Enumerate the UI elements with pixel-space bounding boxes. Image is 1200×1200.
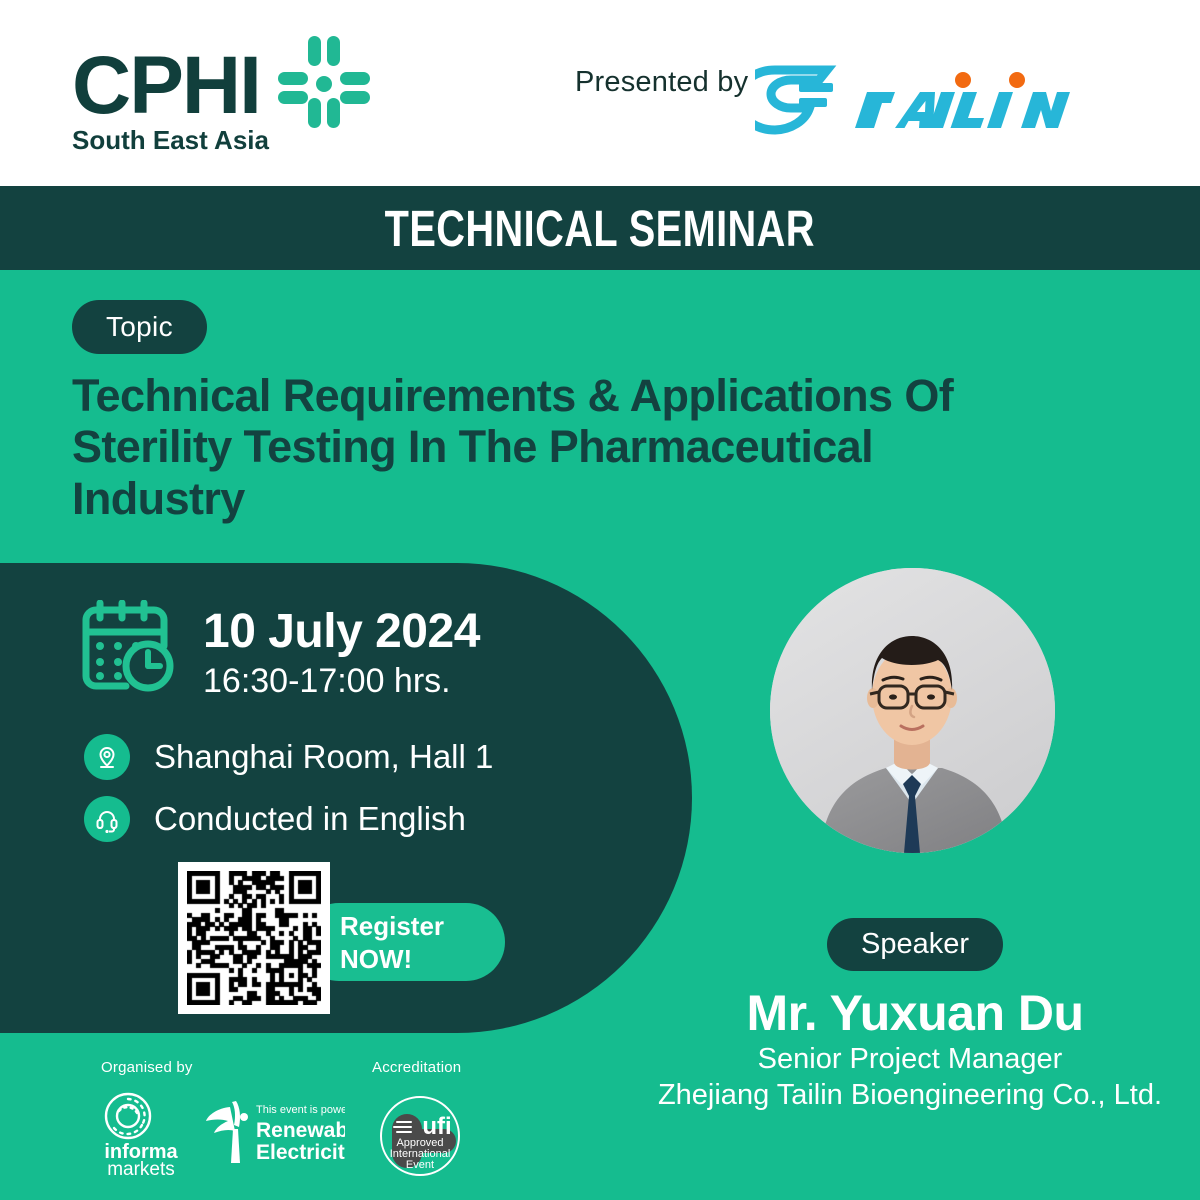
page-header: CPHI South East Asia Presented by: [0, 0, 1200, 186]
event-time: 16:30-17:00 hrs.: [203, 662, 451, 701]
topic-title: Technical Requirements & Applications Of…: [72, 370, 1002, 524]
headset-icon: [84, 796, 130, 842]
event-date: 10 July 2024: [203, 604, 480, 659]
language-row: Conducted in English: [84, 796, 466, 842]
seminar-banner-title: TECHNICAL SEMINAR: [385, 199, 815, 258]
location-pin-icon: [84, 734, 130, 780]
accreditation-label: Accreditation: [372, 1059, 461, 1076]
venue-text: Shanghai Room, Hall 1: [154, 738, 493, 776]
seminar-banner: TECHNICAL SEMINAR: [0, 186, 1200, 270]
ufi-line-3: Event: [406, 1159, 434, 1171]
ufi-mark-text: ufi: [422, 1113, 451, 1140]
renewable-word-1: Renewable: [256, 1119, 345, 1142]
speaker-company: Zhejiang Tailin Bioengineering Co., Ltd.: [620, 1079, 1200, 1112]
speaker-role: Senior Project Manager: [620, 1043, 1200, 1076]
topic-badge: Topic: [72, 300, 207, 354]
presented-by-label: Presented by: [575, 66, 748, 99]
ufi-accreditation-logo: ufi Approved International Event: [375, 1092, 465, 1180]
qr-code-canvas: [187, 871, 321, 1005]
speaker-photo: [770, 568, 1055, 853]
register-now-label[interactable]: Register NOW!: [340, 910, 500, 975]
register-line-1: Register: [340, 911, 444, 941]
speaker-badge: Speaker: [827, 918, 1003, 971]
calendar-clock-icon: [78, 600, 180, 692]
venue-row: Shanghai Room, Hall 1: [84, 734, 493, 780]
renewable-tagline-text: This event is powered by: [256, 1104, 345, 1116]
register-line-2: NOW!: [340, 944, 412, 974]
language-text: Conducted in English: [154, 800, 466, 838]
renewable-word-2: Electricity: [256, 1141, 345, 1164]
cphi-dot-motif-icon: [270, 28, 378, 136]
tailin-sponsor-logo: [755, 62, 1075, 137]
markets-word: markets: [107, 1159, 175, 1178]
qr-code-icon[interactable]: [178, 862, 330, 1014]
renewable-electricity-logo: This event is powered by Renewable Elect…: [200, 1095, 345, 1167]
speaker-badge-wrap: Speaker: [630, 918, 1200, 971]
organised-by-label: Organised by: [101, 1059, 193, 1076]
speaker-name: Mr. Yuxuan Du: [630, 984, 1200, 1042]
informa-markets-logo: informa markets: [95, 1090, 187, 1178]
